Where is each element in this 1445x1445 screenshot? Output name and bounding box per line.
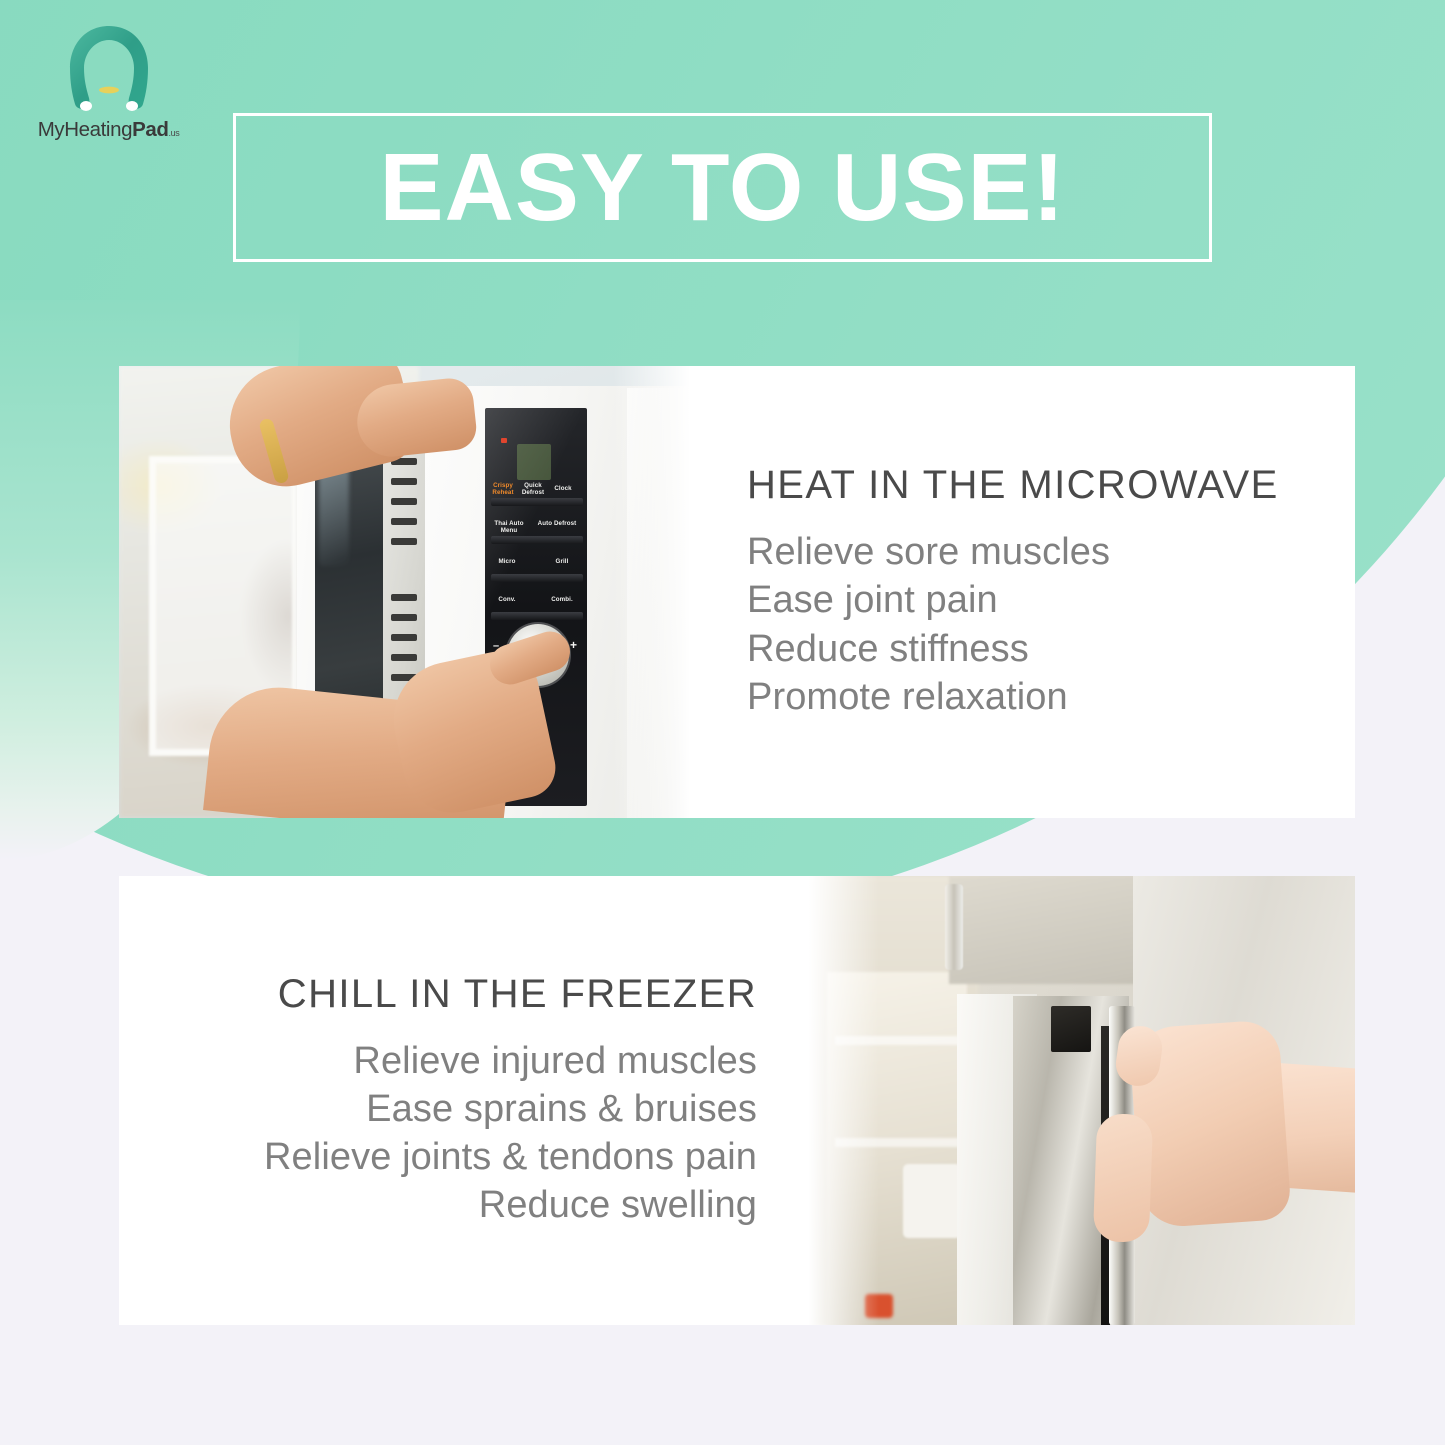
wordmark-part2: Pad [132, 118, 168, 141]
panel-button-row-1 [491, 498, 583, 506]
photo-right-fade [613, 366, 703, 818]
vent-slot [391, 654, 417, 661]
microwave-photo: Crispy Reheat Quick Defrost Clock Thai A… [119, 366, 703, 818]
freezer-photo [799, 876, 1355, 1325]
panel-label-clock: Clock [549, 485, 577, 492]
photo-left-fade [799, 876, 879, 1325]
vent-slot [391, 614, 417, 621]
vent-slot [391, 538, 417, 545]
vent-slot [391, 594, 417, 601]
neck-heating-pad-icon [63, 22, 155, 112]
vent-slot [391, 498, 417, 505]
panel-label-auto-defrost: Auto Defrost [533, 520, 581, 527]
panel-label-conv: Conv. [491, 596, 523, 603]
card-heat-in-the-microwave: Crispy Reheat Quick Defrost Clock Thai A… [119, 366, 1355, 818]
brand-logo[interactable]: MyHeatingPad.us [16, 22, 201, 147]
panel-label-quick-defrost: Quick Defrost [517, 482, 549, 496]
card-chill-in-the-freezer: CHILL IN THE FREEZER Relieve injured mus… [119, 876, 1355, 1325]
panel-button-row-4 [491, 612, 583, 620]
benefit-item: Relieve injured muscles [264, 1037, 757, 1085]
fridge-upper-handle [945, 884, 963, 970]
power-led-icon [501, 438, 507, 443]
panel-label-combi: Combi. [545, 596, 579, 603]
benefit-item: Promote relaxation [747, 673, 1110, 721]
vent-slot [391, 518, 417, 525]
benefit-item: Reduce stiffness [747, 625, 1110, 673]
card-2-heading: CHILL IN THE FREEZER [278, 972, 757, 1016]
panel-label-micro: Micro [491, 558, 523, 565]
wordmark-part1: MyHeating [38, 118, 132, 141]
benefit-item: Reduce swelling [264, 1181, 757, 1229]
page-title: EASY TO USE! [380, 140, 1066, 236]
vent-slot [391, 478, 417, 485]
benefit-item: Ease sprains & bruises [264, 1085, 757, 1133]
card-1-benefit-list: Relieve sore muscles Ease joint pain Red… [747, 528, 1110, 721]
microwave-display [517, 444, 551, 480]
wordmark-tld: .us [168, 128, 179, 138]
fridge-door-bin [903, 1164, 961, 1238]
panel-label-grill: Grill [547, 558, 577, 565]
card-2-benefit-list: Relieve injured muscles Ease sprains & b… [264, 1037, 757, 1230]
title-frame: EASY TO USE! [233, 113, 1212, 262]
door-dark-accent [1051, 1006, 1091, 1052]
panel-label-thai-auto-menu: Thai Auto Menu [487, 520, 531, 534]
card-1-heading: HEAT IN THE MICROWAVE [747, 463, 1279, 507]
increase-icon: + [570, 638, 577, 652]
vent-slot [391, 634, 417, 641]
benefit-item: Relieve sore muscles [747, 528, 1110, 576]
card-1-text-block: HEAT IN THE MICROWAVE Relieve sore muscl… [703, 366, 1355, 818]
panel-button-row-2 [491, 536, 583, 544]
card-2-text-block: CHILL IN THE FREEZER Relieve injured mus… [119, 876, 799, 1325]
brand-wordmark: MyHeatingPad.us [16, 118, 201, 142]
fingers [1093, 1113, 1153, 1243]
panel-label-crispy-reheat: Crispy Reheat [489, 482, 517, 496]
benefit-item: Relieve joints & tendons pain [264, 1133, 757, 1181]
benefit-item: Ease joint pain [747, 576, 1110, 624]
panel-button-row-3 [491, 574, 583, 582]
